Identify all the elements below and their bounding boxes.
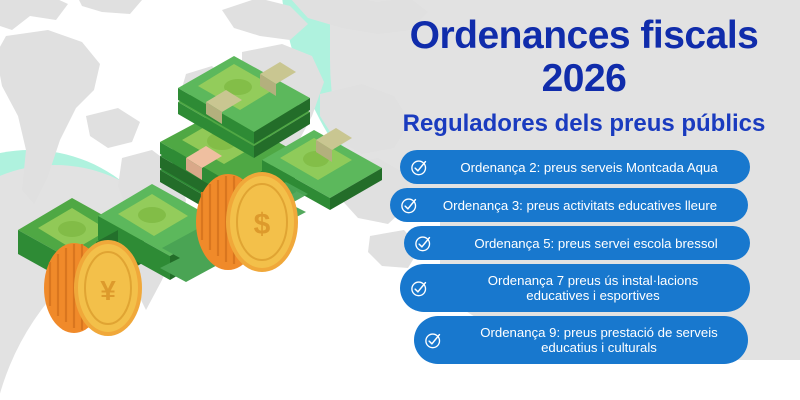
svg-text:¥: ¥ xyxy=(100,275,116,306)
check-circle-icon xyxy=(410,279,429,298)
ordinance-pill-9[interactable]: Ordenança 9: preus prestació de serveis … xyxy=(414,316,748,364)
page-title-line1: Ordenances fiscals xyxy=(410,14,759,57)
content-column: Ordenances fiscals 2026 Reguladores dels… xyxy=(382,0,800,400)
poster-canvas: $ ¥ Ordenances fiscals 2026 Re xyxy=(0,0,800,400)
list-item-row: Ordenança 7 preus ús instal·lacions educ… xyxy=(382,264,800,312)
check-circle-icon xyxy=(424,331,443,350)
ordinance-list: Ordenança 2: preus serveis Montcada Aqua… xyxy=(382,150,800,368)
list-item-row: Ordenança 5: preus servei escola bressol xyxy=(382,226,800,260)
ordinance-label: Ordenança 9: preus prestació de serveis … xyxy=(450,325,734,355)
money-exchange-illustration: $ ¥ xyxy=(10,40,390,340)
ordinance-pill-2[interactable]: Ordenança 2: preus serveis Montcada Aqua xyxy=(400,150,750,184)
page-title: Ordenances fiscals 2026 xyxy=(382,14,786,100)
check-circle-icon xyxy=(414,234,433,253)
list-item-row: Ordenança 2: preus serveis Montcada Aqua xyxy=(382,150,800,184)
svg-text:$: $ xyxy=(254,208,271,241)
gold-coin-yen: ¥ xyxy=(44,240,142,336)
page-title-line2: 2026 xyxy=(542,57,627,100)
list-item-row: Ordenança 9: preus prestació de serveis … xyxy=(382,316,800,364)
ordinance-pill-3[interactable]: Ordenança 3: preus activitats educatives… xyxy=(390,188,748,222)
ordinance-label: Ordenança 2: preus serveis Montcada Aqua xyxy=(436,160,736,175)
ordinance-pill-7[interactable]: Ordenança 7 preus ús instal·lacions educ… xyxy=(400,264,750,312)
page-subtitle: Reguladores dels preus públics xyxy=(382,110,786,138)
ordinance-label: Ordenança 3: preus activitats educatives… xyxy=(426,198,734,213)
list-item-row: Ordenança 3: preus activitats educatives… xyxy=(382,188,800,222)
ordinance-pill-5[interactable]: Ordenança 5: preus servei escola bressol xyxy=(404,226,750,260)
ordinance-label: Ordenança 7 preus ús instal·lacions educ… xyxy=(436,273,736,303)
ordinance-label: Ordenança 5: preus servei escola bressol xyxy=(440,236,736,251)
check-circle-icon xyxy=(400,196,419,215)
check-circle-icon xyxy=(410,158,429,177)
